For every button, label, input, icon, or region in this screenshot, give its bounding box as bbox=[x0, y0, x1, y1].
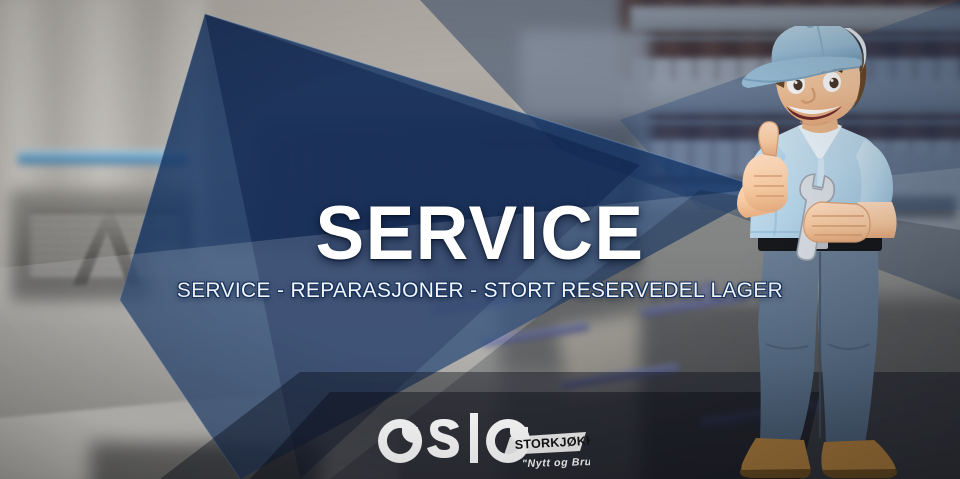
mascot-boots bbox=[740, 438, 897, 478]
service-banner: SERVICE SERVICE - REPARASJONER - STORT R… bbox=[0, 0, 960, 479]
mascot-boot-right-sole bbox=[822, 469, 897, 478]
mascot-eye-right-glint bbox=[831, 79, 834, 82]
page-subtitle: SERVICE - REPARASJONER - STORT RESERVEDE… bbox=[14, 278, 945, 302]
logo-letter-l bbox=[470, 413, 478, 463]
logo-letter-o1-notch bbox=[402, 427, 418, 443]
page-title: SERVICE bbox=[19, 196, 941, 272]
logo-letter-s bbox=[427, 419, 459, 458]
logo-tagline-text: "Nytt og Brukt" bbox=[522, 456, 590, 470]
mascot-eye-left-iris bbox=[793, 80, 802, 90]
mascot-boot-left-sole bbox=[740, 469, 811, 478]
mascot-eye-left-glint bbox=[795, 81, 798, 84]
mascot-eye-right-iris bbox=[829, 78, 838, 88]
company-logo[interactable]: STORKJØKKEN AS "Nytt og Brukt" bbox=[378, 411, 590, 473]
logo-wordmark-oslo bbox=[378, 413, 530, 463]
